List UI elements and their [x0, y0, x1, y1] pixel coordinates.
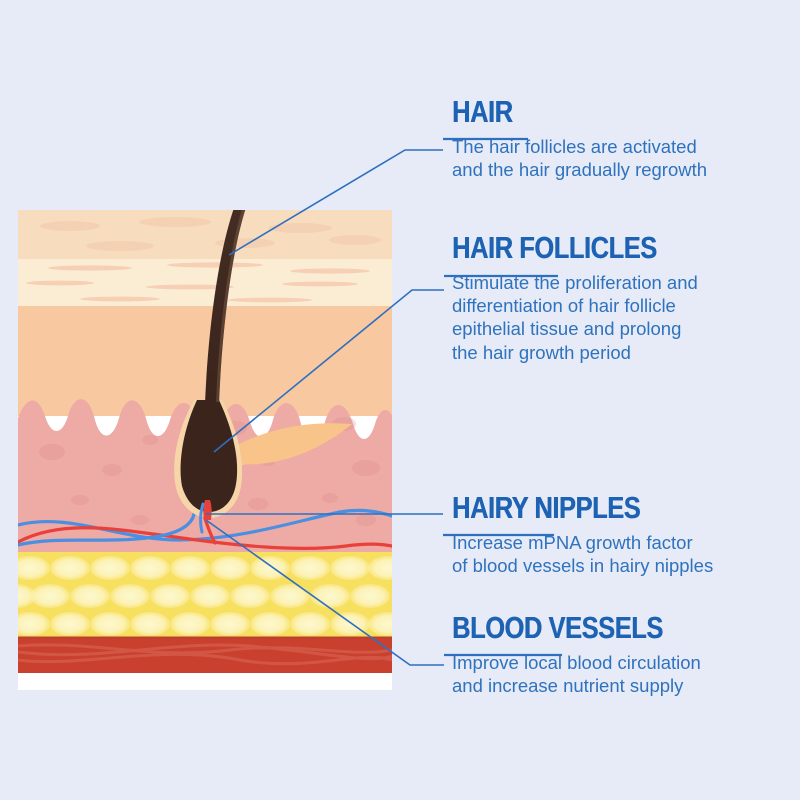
callout-hair-body: The hair follicles are activated and the…: [452, 135, 782, 182]
callout-hair-follicles: HAIR FOLLICLES Stimulate the proliferati…: [452, 232, 782, 364]
callout-hair: HAIR The hair follicles are activated an…: [452, 96, 782, 181]
callout-hairy-nipples-body: Increase mPNA growth factor of blood ves…: [452, 531, 782, 578]
callout-hairy-nipples: HAIRY NIPPLES Increase mPNA growth facto…: [452, 492, 782, 577]
callout-blood-vessels-heading: BLOOD VESSELS: [452, 612, 723, 644]
layer-epidermis-orange: [18, 306, 392, 416]
callout-hair-follicles-body: Stimulate the proliferation and differen…: [452, 271, 782, 364]
fat-cells: [0, 556, 408, 636]
callout-hair-heading: HAIR: [452, 96, 723, 128]
heading-underlines: [443, 139, 562, 655]
layer-stratum-corneum: [18, 210, 392, 262]
callout-hairy-nipples-heading: HAIRY NIPPLES: [452, 492, 723, 524]
infographic-stage: HAIR The hair follicles are activated an…: [0, 0, 800, 800]
callout-hair-follicles-heading: HAIR FOLLICLES: [452, 232, 723, 264]
callout-blood-vessels: BLOOD VESSELS Improve local blood circul…: [452, 612, 782, 697]
callout-blood-vessels-body: Improve local blood circulation and incr…: [452, 651, 782, 698]
dermal-papilla: [203, 500, 211, 520]
